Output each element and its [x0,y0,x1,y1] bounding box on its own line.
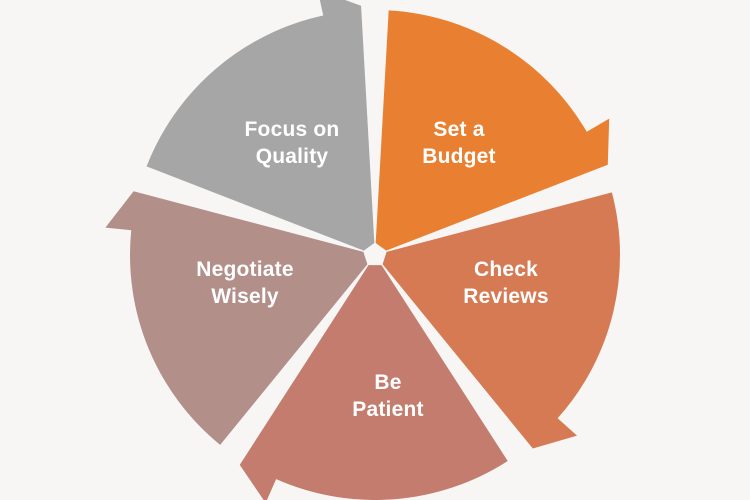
segment-label-line2-check-reviews: Reviews [463,285,548,308]
segment-label-line1-check-reviews: Check [474,258,538,281]
segment-label-line1-negotiate-wisely: Negotiate [196,258,293,281]
segments-group [105,0,620,500]
segment-label-line2-set-a-budget: Budget [422,145,496,168]
segment-label-line1-focus-on-quality: Focus on [245,118,340,141]
cycle-diagram: Set aBudgetCheckReviewsBePatientNegotiat… [0,0,750,500]
segment-label-line2-focus-on-quality: Quality [256,145,329,168]
segment-label-line2-be-patient: Patient [352,398,423,421]
segment-label-line1-be-patient: Be [374,371,401,394]
cycle-wheel-svg: Set aBudgetCheckReviewsBePatientNegotiat… [0,0,750,500]
segment-label-line1-set-a-budget: Set a [433,118,484,141]
segment-label-line2-negotiate-wisely: Wisely [211,285,279,308]
